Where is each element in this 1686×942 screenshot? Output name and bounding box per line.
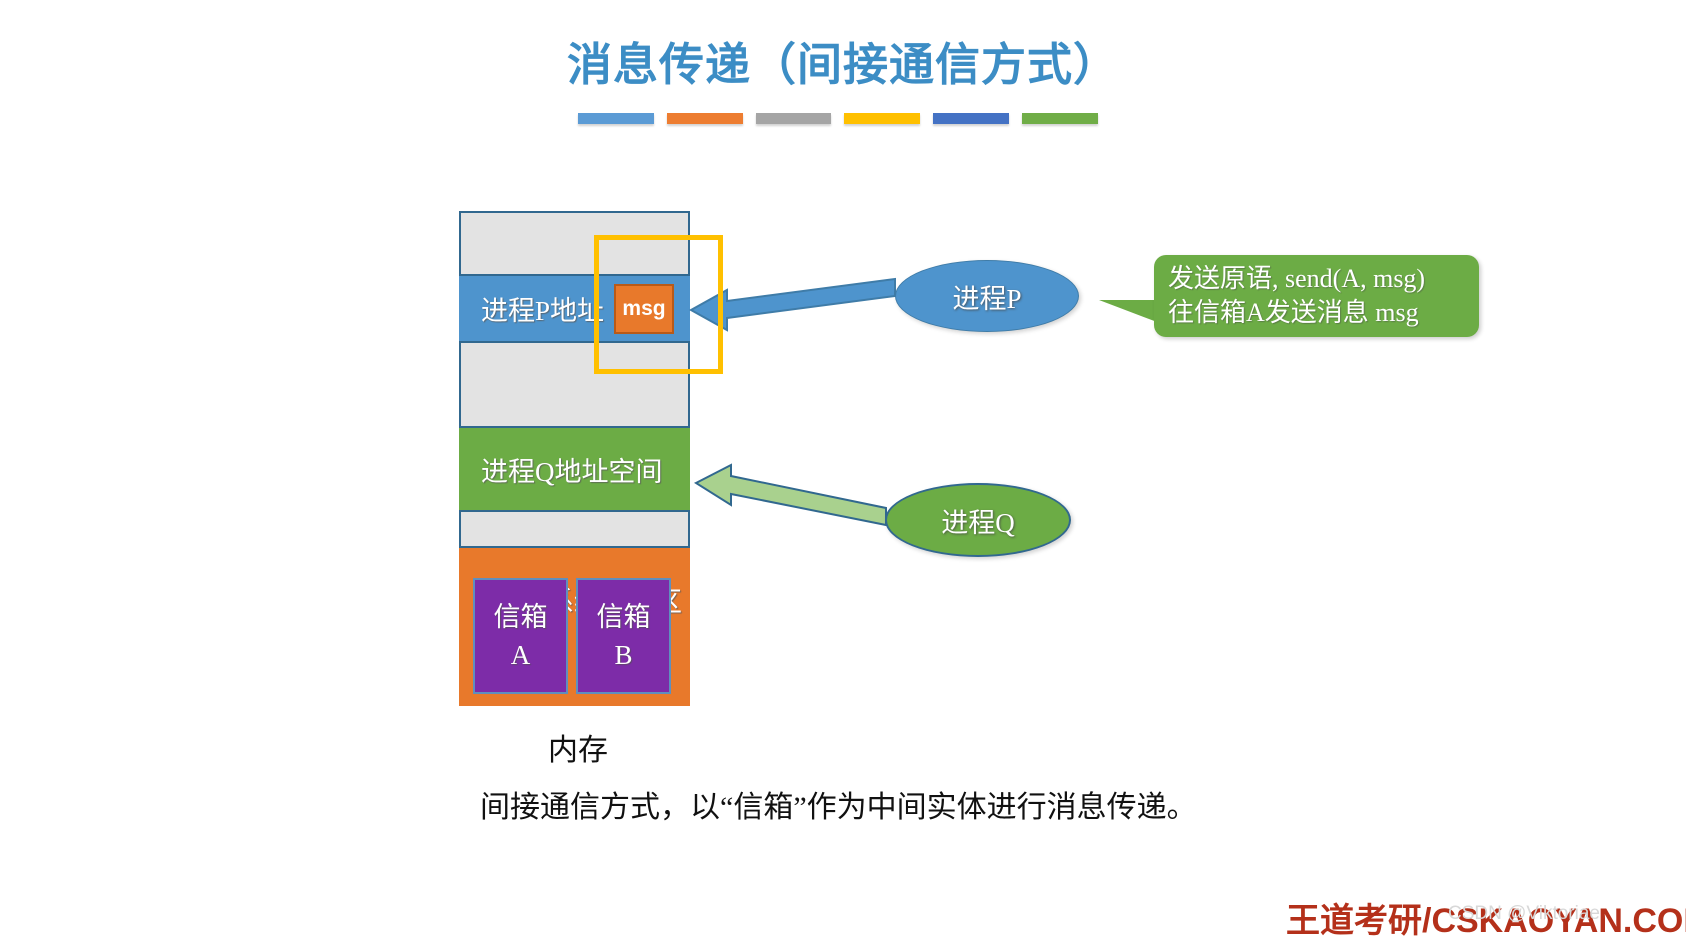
slide-canvas: 消息传递（间接通信方式） 进程P地址 进程Q地址空间 系统内核区 信箱 A 信箱… — [0, 0, 1686, 940]
title-accent-bars — [578, 113, 1098, 125]
callout-line-1: 发送原语, send(A, msg) — [1168, 262, 1465, 296]
memory-band-process-q: 进程Q地址空间 — [459, 426, 690, 512]
mailbox-a-title: 信箱 — [494, 598, 548, 636]
mailbox-b-id: B — [614, 636, 632, 674]
accent-bar-5 — [933, 113, 1009, 124]
callout-tail — [1099, 300, 1157, 322]
memory-label: 内存 — [548, 725, 608, 769]
highlight-rectangle — [594, 235, 723, 374]
mailbox-b: 信箱 B — [576, 578, 671, 694]
credit-watermark: CSDN @Viktoriae — [1448, 903, 1600, 925]
accent-bar-1 — [578, 113, 654, 124]
accent-bar-4 — [844, 113, 920, 124]
process-p-label: 进程P — [952, 277, 1021, 316]
mailbox-a-id: A — [511, 636, 531, 674]
accent-bar-3 — [756, 113, 832, 124]
mailbox-b-title: 信箱 — [597, 598, 651, 636]
process-q-node: 进程Q — [885, 483, 1071, 557]
process-q-label: 进程Q — [941, 501, 1015, 540]
process-p-node: 进程P — [895, 260, 1079, 332]
memory-band-process-q-label: 进程Q地址空间 — [459, 450, 663, 489]
mailbox-a: 信箱 A — [473, 578, 568, 694]
callout-line-2: 往信箱A发送消息 msg — [1168, 296, 1465, 330]
accent-bar-2 — [667, 113, 743, 124]
arrow-process-q — [696, 465, 886, 525]
memory-band-process-p-label: 进程P地址 — [459, 289, 604, 328]
send-primitive-callout: 发送原语, send(A, msg) 往信箱A发送消息 msg — [1154, 255, 1479, 337]
page-title: 消息传递（间接通信方式） — [0, 28, 1686, 93]
memory-band-kernel: 系统内核区 信箱 A 信箱 B — [459, 546, 690, 706]
accent-bar-6 — [1022, 113, 1098, 124]
slide-caption: 间接通信方式，以“信箱”作为中间实体进行消息传递。 — [480, 782, 1197, 826]
